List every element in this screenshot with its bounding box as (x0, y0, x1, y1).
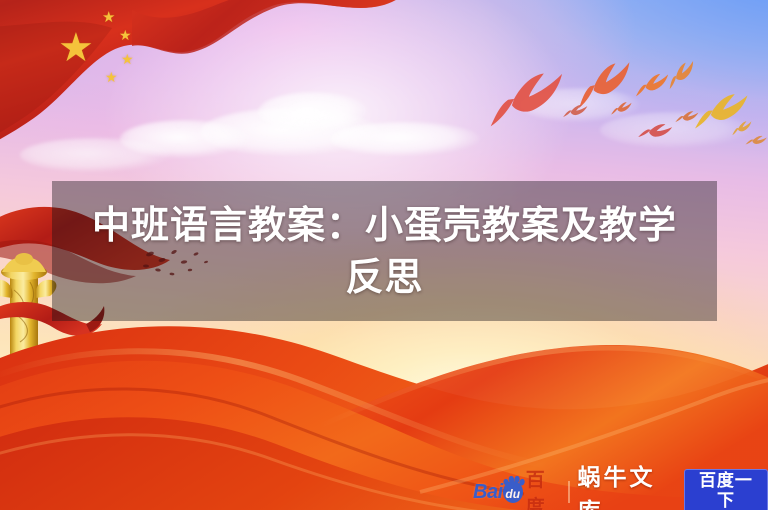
watermark-divider (568, 481, 571, 503)
title-overlay-band: 中班语言教案：小蛋壳教案及教学反思 (52, 181, 717, 321)
flag-star-large: ★ (58, 28, 94, 68)
baidu-logo[interactable]: Bai du 百度 (473, 479, 561, 505)
baidu-wordmark-cn: 百度 (526, 465, 561, 510)
watermark-bar: Bai du 百度 蜗牛文库 百度一下 (473, 478, 768, 506)
baidu-paw-label: du (505, 488, 520, 503)
baidu-paw-icon: du (503, 481, 523, 503)
baidu-search-button[interactable]: 百度一下 (684, 469, 768, 510)
flag-star-small-4: ★ (105, 70, 118, 84)
flag-star-small-3: ★ (121, 52, 134, 66)
flag-star-small-2: ★ (119, 28, 132, 42)
paw-toes-icon (503, 476, 525, 486)
site-brand-label: 蜗牛文库 (577, 458, 675, 510)
cover-image-canvas: ★ ★ ★ ★ ★ (0, 0, 768, 510)
page-title: 中班语言教案：小蛋壳教案及教学反思 (74, 199, 695, 304)
flag-star-small-1: ★ (102, 10, 115, 25)
baidu-wordmark-latin: Bai (473, 481, 503, 504)
